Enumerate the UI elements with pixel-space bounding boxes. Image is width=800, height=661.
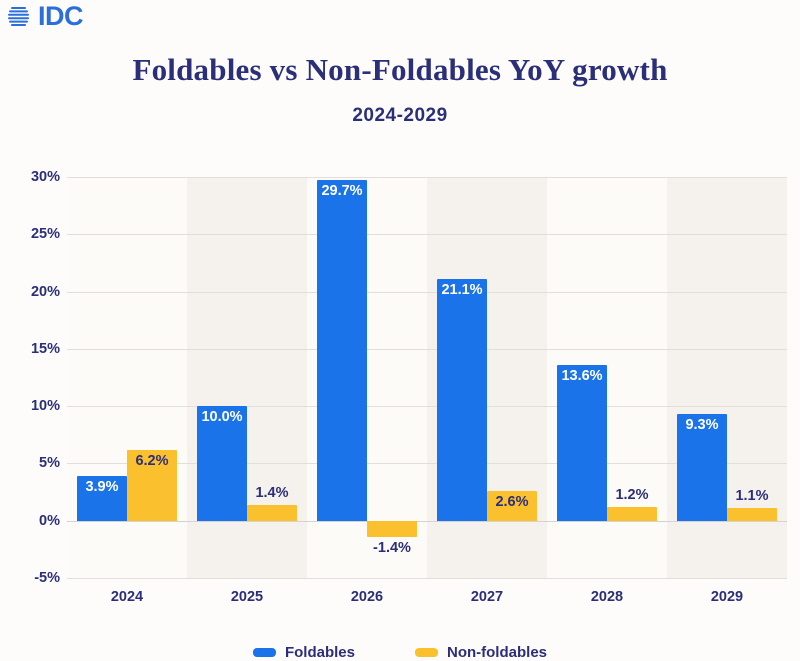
x-axis-tick-label-2027: 2027: [427, 589, 547, 605]
y-axis-tick-label: 0%: [4, 513, 60, 529]
y-axis-tick-label: 25%: [4, 226, 60, 242]
y-axis-tick-label: 5%: [4, 455, 60, 471]
bar-value-label: 21.1%: [437, 282, 487, 298]
legend-item-foldables[interactable]: Foldables: [253, 644, 355, 661]
y-axis-tick-label: -5%: [4, 570, 60, 586]
idc-wordmark: IDC: [38, 2, 83, 30]
gridline: [67, 578, 787, 579]
legend-label: Non-foldables: [447, 644, 547, 661]
bar-value-label: 1.2%: [607, 487, 657, 503]
bar-value-label: 29.7%: [317, 183, 367, 199]
gridline: [67, 406, 787, 407]
chart-subtitle: 2024-2029: [0, 105, 800, 127]
bar-value-label: 6.2%: [127, 453, 177, 469]
legend-swatch: [253, 648, 276, 657]
gridline: [67, 292, 787, 293]
x-axis-tick-label-2024: 2024: [67, 589, 187, 605]
bar-value-label: 1.4%: [247, 485, 297, 501]
zero-line: [67, 521, 787, 522]
y-axis-tick-label: 10%: [4, 398, 60, 414]
x-axis-tick-label-2026: 2026: [307, 589, 427, 605]
bar-value-label: -1.4%: [367, 540, 417, 556]
bar-value-label: 10.0%: [197, 409, 247, 425]
y-axis-tick-label: 20%: [4, 284, 60, 300]
bar-foldables-2028[interactable]: [557, 365, 607, 521]
bar-value-label: 3.9%: [77, 479, 127, 495]
bar-foldables-2027[interactable]: [437, 279, 487, 521]
bar-non-foldables-2028[interactable]: [607, 507, 657, 521]
y-axis: 30%25%20%15%10%5%0%-5%: [0, 177, 60, 578]
gridline: [67, 177, 787, 178]
bar-non-foldables-2025[interactable]: [247, 505, 297, 521]
bar-value-label: 13.6%: [557, 368, 607, 384]
x-axis-tick-label-2025: 2025: [187, 589, 307, 605]
legend-label: Foldables: [285, 644, 355, 661]
idc-logo: IDC: [8, 2, 83, 30]
bar-value-label: 1.1%: [727, 488, 777, 504]
x-axis-tick-label-2028: 2028: [547, 589, 667, 605]
legend-item-non-foldables[interactable]: Non-foldables: [415, 644, 547, 661]
globe-icon: [8, 2, 36, 30]
plot-area: 3.9%6.2%10.0%1.4%29.7%-1.4%21.1%2.6%13.6…: [67, 177, 787, 578]
bar-value-label: 2.6%: [487, 494, 537, 510]
legend-swatch: [415, 648, 438, 657]
chart-legend: FoldablesNon-foldables: [0, 644, 800, 661]
y-axis-tick-label: 30%: [4, 169, 60, 185]
gridline: [67, 234, 787, 235]
bar-foldables-2026[interactable]: [317, 180, 367, 520]
bar-value-label: 9.3%: [677, 417, 727, 433]
bar-non-foldables-2026[interactable]: [367, 521, 417, 537]
chart-title: Foldables vs Non-Foldables YoY growth: [0, 52, 800, 88]
gridline: [67, 349, 787, 350]
x-axis: 202420252026202720282029: [67, 589, 787, 611]
chart-page: IDC Foldables vs Non-Foldables YoY growt…: [0, 0, 800, 661]
x-axis-tick-label-2029: 2029: [667, 589, 787, 605]
y-axis-tick-label: 15%: [4, 341, 60, 357]
bar-non-foldables-2029[interactable]: [727, 508, 777, 521]
